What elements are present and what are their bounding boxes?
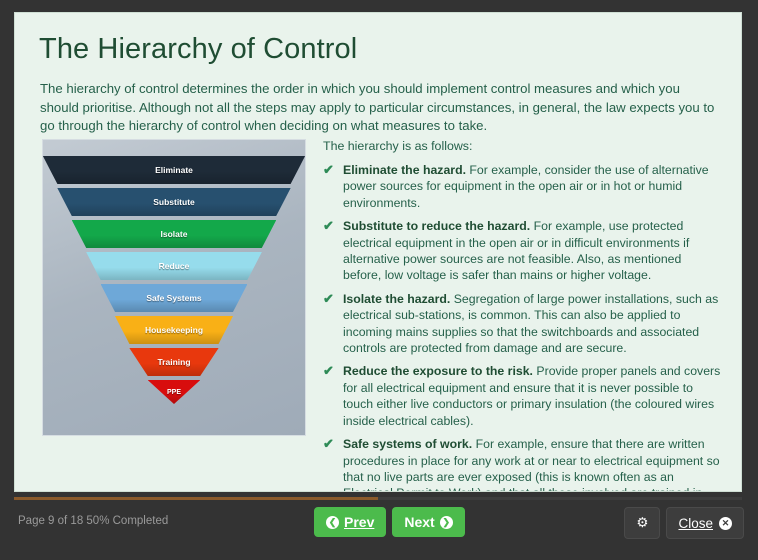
chevron-right-icon: ❯ bbox=[440, 516, 453, 529]
list-item-lead: Safe systems of work. bbox=[343, 437, 472, 451]
list-item: ✔Substitute to reduce the hazard. For ex… bbox=[323, 218, 723, 284]
list-item: ✔Eliminate the hazard. For example, cons… bbox=[323, 162, 723, 211]
pyramid-layer-label: Reduce bbox=[159, 261, 190, 271]
pyramid-layer: Safe Systems bbox=[101, 284, 248, 312]
check-icon: ✔ bbox=[323, 436, 338, 453]
list-item: ✔Isolate the hazard. Segregation of larg… bbox=[323, 291, 723, 357]
hierarchy-list: The hierarchy is as follows: ✔Eliminate … bbox=[323, 139, 723, 492]
progress-fill bbox=[14, 497, 378, 500]
slide-content-panel: The Hierarchy of Control The hierarchy o… bbox=[14, 12, 742, 492]
navigation-buttons: ❮ Prev Next ❯ bbox=[314, 507, 465, 537]
status-text: Page 9 of 18 50% Completed bbox=[18, 515, 168, 527]
gear-icon: ⚙ bbox=[636, 515, 648, 531]
list-intro: The hierarchy is as follows: bbox=[323, 139, 723, 153]
list-item: ✔Reduce the exposure to the risk. Provid… bbox=[323, 363, 723, 429]
check-icon: ✔ bbox=[323, 291, 338, 308]
pyramid-layer: PPE bbox=[148, 380, 200, 404]
list-item-lead: Isolate the hazard. bbox=[343, 292, 450, 306]
check-icon: ✔ bbox=[323, 363, 338, 380]
pyramid-layer-label: PPE bbox=[167, 389, 181, 396]
window-controls: ⚙ Close ✕ bbox=[624, 507, 744, 539]
list-item-text: Substitute to reduce the hazard. For exa… bbox=[343, 218, 723, 284]
list-item-text: Safe systems of work. For example, ensur… bbox=[343, 436, 723, 492]
pyramid-layer-label: Substitute bbox=[153, 197, 195, 207]
list-item-lead: Reduce the exposure to the risk. bbox=[343, 364, 533, 378]
list-item-lead: Substitute to reduce the hazard. bbox=[343, 219, 530, 233]
list-item-text: Eliminate the hazard. For example, consi… bbox=[343, 162, 723, 211]
close-icon: ✕ bbox=[719, 517, 732, 530]
pyramid-layer-label: Isolate bbox=[161, 229, 188, 239]
chevron-left-icon: ❮ bbox=[326, 516, 339, 529]
close-button-label: Close bbox=[678, 516, 713, 531]
pyramid-layer: Training bbox=[129, 348, 218, 376]
list-item: ✔Safe systems of work. For example, ensu… bbox=[323, 436, 723, 492]
list-item-text: Isolate the hazard. Segregation of large… bbox=[343, 291, 723, 357]
close-button[interactable]: Close ✕ bbox=[666, 507, 744, 539]
bullet-container: ✔Eliminate the hazard. For example, cons… bbox=[323, 162, 723, 492]
pyramid-layer-label: Housekeeping bbox=[145, 325, 203, 335]
progress-track bbox=[14, 497, 742, 500]
prev-button-label: Prev bbox=[344, 514, 374, 530]
list-item-text: Reduce the exposure to the risk. Provide… bbox=[343, 363, 723, 429]
check-icon: ✔ bbox=[323, 218, 338, 235]
prev-button[interactable]: ❮ Prev bbox=[314, 507, 386, 537]
check-icon: ✔ bbox=[323, 162, 338, 179]
next-button-label: Next bbox=[404, 514, 434, 530]
pyramid-layer: Eliminate bbox=[43, 156, 305, 184]
course-player-window: The Hierarchy of Control The hierarchy o… bbox=[0, 0, 758, 560]
pyramid-layer: Substitute bbox=[57, 188, 290, 216]
pyramid-layers: EliminateSubstituteIsolateReduceSafe Sys… bbox=[43, 156, 305, 408]
page-title: The Hierarchy of Control bbox=[39, 33, 357, 66]
pyramid-layer: Reduce bbox=[86, 252, 262, 280]
pyramid-layer: Housekeeping bbox=[115, 316, 233, 344]
list-item-lead: Eliminate the hazard. bbox=[343, 163, 466, 177]
pyramid-layer-label: Eliminate bbox=[155, 165, 193, 175]
pyramid-layer-label: Safe Systems bbox=[146, 293, 201, 303]
next-button[interactable]: Next ❯ bbox=[392, 507, 464, 537]
hierarchy-pyramid-figure: EliminateSubstituteIsolateReduceSafe Sys… bbox=[42, 139, 306, 436]
intro-paragraph: The hierarchy of control determines the … bbox=[40, 80, 720, 136]
pyramid-layer: Isolate bbox=[72, 220, 276, 248]
pyramid-layer-label: Training bbox=[157, 357, 190, 367]
settings-button[interactable]: ⚙ bbox=[624, 507, 660, 539]
